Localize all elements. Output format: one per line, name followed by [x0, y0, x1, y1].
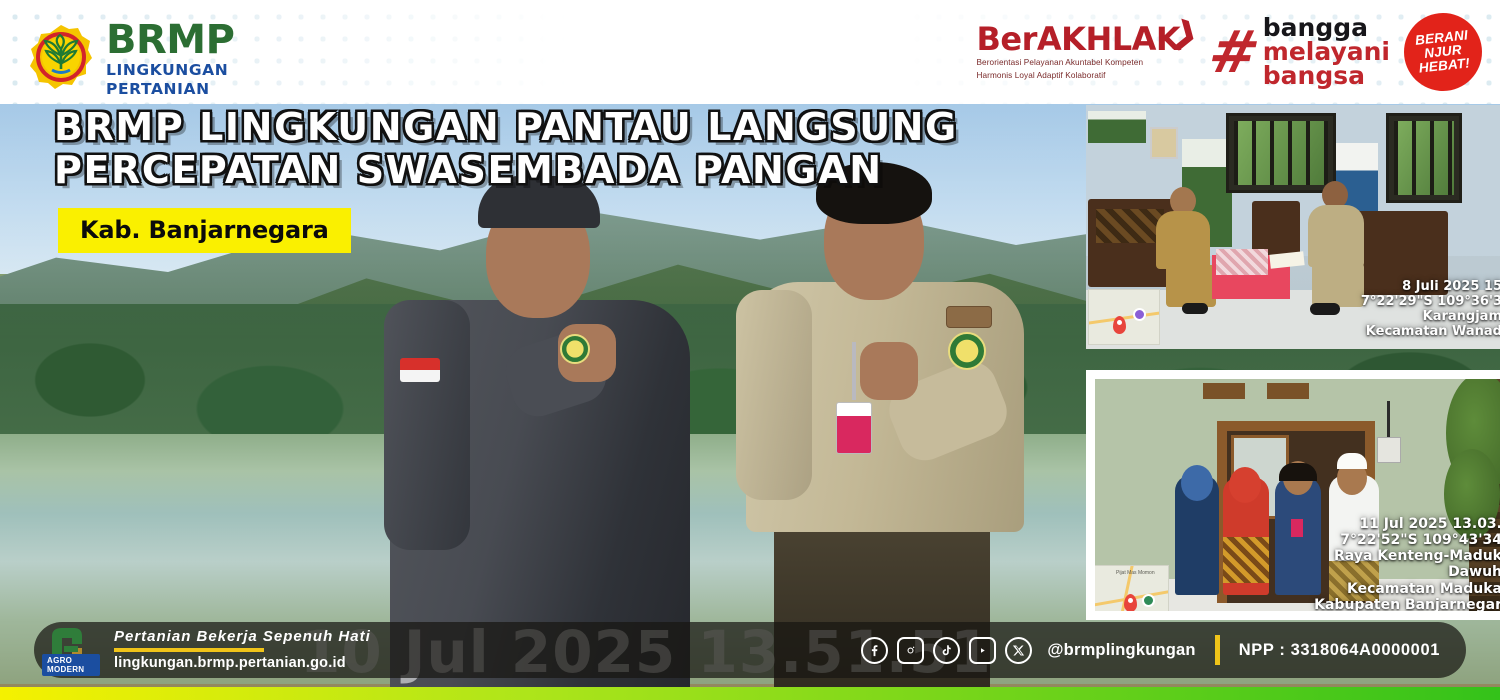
map-pin [1124, 594, 1137, 611]
inset-photo-body: Pijat Mas Momon 11 Jul 2025 13.03. 7°22'… [1095, 379, 1500, 611]
minimap-thumbnail [1088, 289, 1160, 345]
tagline-rule [114, 648, 264, 652]
electric-meter [1377, 437, 1401, 463]
gps-line: 11 Jul 2025 13.03. [1314, 516, 1500, 532]
bangga-melayani-bangsa-badge: # bangga melayani bangsa [1210, 16, 1390, 88]
torso [1156, 211, 1210, 269]
divider [1215, 635, 1220, 665]
tagline-text: Pertanian Bekerja Sepenuh Hati [114, 629, 371, 645]
inset-photo-group[interactable]: Pijat Mas Momon 11 Jul 2025 13.03. 7°22'… [1086, 370, 1500, 620]
berakhlak-values-2: Harmonis Loyal Adaptif Kolaboratif [977, 71, 1181, 81]
bangga-lines: bangga melayani bangsa [1263, 16, 1390, 88]
brand-subtitle-2: PERTANIAN [106, 81, 234, 98]
minimap-label: Pijat Mas Momon [1116, 570, 1155, 576]
gps-line: Dawuh [1314, 564, 1500, 580]
header-bar: BRMP LINGKUNGAN PERTANIAN BerAKHLAK ❯ Be… [0, 0, 1500, 104]
x-icon[interactable] [1005, 637, 1032, 664]
shoe [1310, 303, 1340, 315]
bottom-gradient-strip [0, 687, 1500, 700]
window-right [1386, 113, 1462, 203]
legs [1312, 263, 1364, 307]
kementan-arm-emblem [948, 332, 986, 370]
inset-photo-body: 8 Juli 2025 15 7°22'29"S 109°36'3 Karang… [1086, 105, 1500, 349]
gps-line: Raya Kenteng-Maduk [1314, 548, 1500, 564]
window-bars [1234, 121, 1328, 185]
berakhlak-title: BerAKHLAK [977, 23, 1181, 55]
indonesian-flag-patch [400, 358, 440, 382]
white-peci [1337, 453, 1367, 469]
npp-number: NPP : 3318064A0000001 [1239, 641, 1440, 660]
gps-line: 7°22'52"S 109°43'34 [1314, 532, 1500, 548]
office-room-scene: 8 Juli 2025 15 7°22'29"S 109°36'3 Karang… [1086, 105, 1500, 349]
inset-photo-interview[interactable]: 8 Juli 2025 15 7°22'29"S 109°36'3 Karang… [1086, 105, 1500, 349]
bangga-line-3: bangsa [1263, 64, 1390, 88]
left-arm [384, 300, 470, 550]
gps-line: Kecamatan Maduka [1314, 581, 1500, 597]
person-farmer-dark-uniform [390, 104, 690, 700]
footer-right: @brmplingkungan NPP : 3318064A0000001 [861, 635, 1466, 665]
title-line-2: PERCEPATAN SWASEMBADA PANGAN [54, 149, 958, 192]
hashtag-icon: # [1205, 29, 1263, 75]
house-front-scene: Pijat Mas Momon 11 Jul 2025 13.03. 7°22'… [1095, 379, 1500, 611]
campaign-badges: BerAKHLAK ❯ Berorientasi Pelayanan Akunt… [977, 10, 1483, 94]
roof-vent [1203, 383, 1245, 399]
poster-canvas: BRMP LINGKUNGAN PANTAU LANGSUNG PERCEPAT… [0, 0, 1500, 700]
map-marker [1133, 308, 1146, 321]
regency-badge: Kab. Banjarnegara [58, 208, 351, 253]
sandal [1182, 303, 1208, 314]
brand-subtitle-1: LINGKUNGAN [106, 62, 234, 79]
bench-carving [1096, 209, 1164, 243]
poster-title: BRMP LINGKUNGAN PANTAU LANGSUNG PERCEPAT… [54, 106, 958, 193]
footer-bar: AGRO MODERN Pertanian Bekerja Sepenuh Ha… [34, 622, 1466, 678]
person-officer-khaki-uniform [740, 104, 1030, 700]
id-card [836, 402, 872, 454]
wall-poster-green [1088, 111, 1146, 143]
gps-line: 8 Juli 2025 15 [1361, 279, 1500, 294]
window-left [1226, 113, 1336, 193]
footer-left: AGRO MODERN Pertanian Bekerja Sepenuh Ha… [34, 622, 371, 678]
uniform-emblem [560, 334, 590, 364]
left-arm [736, 290, 812, 500]
minimap-thumbnail: Pijat Mas Momon [1095, 565, 1169, 611]
torso [1308, 205, 1364, 267]
agro-modern-badge: AGRO MODERN [42, 654, 100, 676]
berakhlak-values-1: Berorientasi Pelayanan Akuntabel Kompete… [977, 58, 1181, 68]
open-notebook [1269, 251, 1304, 268]
id-card [1291, 519, 1303, 537]
blue-hijab [1181, 465, 1213, 501]
gps-line: Kecamatan Wanad [1361, 324, 1500, 339]
legs [1166, 265, 1216, 307]
raised-fist [860, 342, 918, 400]
hair [1279, 463, 1317, 481]
brand-lockup: BRMP LINGKUNGAN PERTANIAN [28, 18, 234, 99]
batik-cloth [1216, 249, 1268, 275]
tagline-block: Pertanian Bekerja Sepenuh Hati lingkunga… [114, 629, 371, 671]
brand-text: BRMP LINGKUNGAN PERTANIAN [106, 18, 234, 99]
agro-modern-logo: AGRO MODERN [42, 620, 100, 678]
gps-line: 7°22'29"S 109°36'3 [1361, 294, 1500, 309]
facebook-icon[interactable] [861, 637, 888, 664]
kementan-logo-icon [28, 23, 94, 93]
social-handle: @brmplingkungan [1047, 641, 1195, 660]
framed-certificate [1150, 127, 1178, 159]
map-marker [1142, 594, 1155, 607]
gps-line: Kabupaten Banjarnegar [1314, 597, 1500, 611]
youtube-icon[interactable] [969, 637, 996, 664]
berani-njur-hebat-badge: BERANI NJUR HEBAT! [1400, 9, 1486, 95]
website-url: lingkungan.brmp.pertanian.go.id [114, 656, 371, 671]
berakhlak-badge: BerAKHLAK ❯ Berorientasi Pelayanan Akunt… [977, 23, 1197, 82]
instagram-icon[interactable] [897, 637, 924, 664]
title-line-1: BRMP LINGKUNGAN PANTAU LANGSUNG [54, 106, 958, 149]
gps-line: Karangjam [1361, 309, 1500, 324]
gps-stamp-interview: 8 Juli 2025 15 7°22'29"S 109°36'3 Karang… [1361, 279, 1500, 339]
batik-skirt [1223, 537, 1269, 583]
map-pin [1113, 316, 1126, 334]
tiktok-icon[interactable] [933, 637, 960, 664]
shoulder-patch [946, 306, 992, 328]
window-bars [1394, 121, 1454, 195]
berani-line-3: HEBAT! [1418, 56, 1470, 75]
roof-vent [1267, 383, 1309, 399]
red-hijab [1229, 467, 1261, 503]
lanyard [852, 342, 856, 400]
brand-name: BRMP [106, 20, 234, 60]
gps-stamp-group: 11 Jul 2025 13.03. 7°22'52"S 109°43'34 R… [1314, 516, 1500, 611]
